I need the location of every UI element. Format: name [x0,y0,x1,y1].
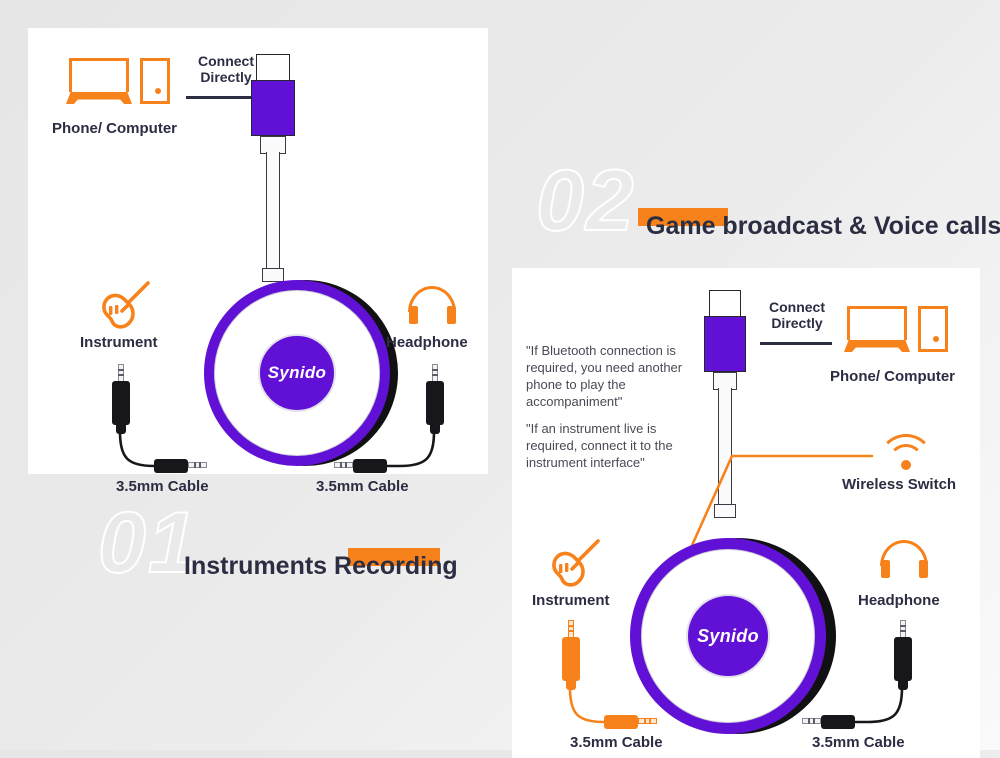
connect-directly-line2: Directly [200,69,251,85]
laptop-icon-2 [844,306,910,352]
connect-directly-label-2: Connect Directly [758,300,836,331]
section-title-01: Instruments Recording [184,552,458,581]
synido-device-2: Synido [630,534,840,744]
cable-label-right-2: 3.5mm Cable [812,734,905,751]
instrument-label-2: Instrument [532,592,610,609]
audio-jack-left-inline-2 [604,714,662,730]
note-bluetooth: "If Bluetooth connection is required, yo… [526,342,698,411]
usb-connector-body-1 [251,80,295,136]
cable-label-left-2: 3.5mm Cable [570,734,663,751]
section-number-01: 01 [98,500,198,586]
phone-computer-label-2: Phone/ Computer [830,368,955,385]
electric-guitar-icon-2 [548,538,602,590]
brand-logo-text-1: Synido [268,363,326,383]
section-title-02: Game broadcast & Voice calls [646,212,1000,241]
panel-game-broadcast-voice-calls: Connect Directly Phone/ Computer "If Blu… [512,268,980,758]
computer-tower-icon [140,58,170,104]
connect-directly-underline-2 [760,342,832,345]
instrument-label-1: Instrument [80,334,158,351]
headphone-icon-2 [880,540,928,580]
computer-tower-icon-2 [918,306,948,352]
connect-directly-line1: Connect [198,53,254,69]
phone-computer-label-1: Phone/ Computer [52,120,177,137]
audio-jack-right-2 [892,620,914,692]
audio-jack-left-inline-1 [154,458,212,474]
audio-jack-right-inline-1 [334,458,392,474]
usb-connector-tip-2 [709,290,741,316]
cable-label-left-1: 3.5mm Cable [116,478,209,495]
laptop-icon [66,58,132,104]
usb-connector-tip-1 [256,54,290,80]
usb-cable-1 [266,152,280,276]
audio-jack-left-1 [110,364,132,436]
audio-jack-left-2 [560,620,582,692]
audio-jack-right-1 [424,364,446,436]
panel-instruments-recording: Phone/ Computer Connect Directly Synido … [28,28,488,474]
connect-directly-line2-2: Directly [771,315,822,331]
electric-guitar-icon-1 [98,280,152,332]
audio-jack-right-inline-2 [802,714,860,730]
connect-directly-line1-2: Connect [769,299,825,315]
headphone-label-1: Headphone [386,334,468,351]
wireless-switch-label: Wireless Switch [842,476,956,493]
headphone-label-2: Headphone [858,592,940,609]
headphone-icon-1 [408,286,456,326]
device-logo-hub-1: Synido [258,334,336,412]
connect-directly-underline-1 [186,96,260,99]
device-logo-hub-2: Synido [686,594,770,678]
brand-logo-text-2: Synido [697,626,759,647]
section-number-02: 02 [536,158,636,244]
cable-label-right-1: 3.5mm Cable [316,478,409,495]
usb-connector-body-2 [704,316,746,372]
wifi-icon [878,434,934,476]
